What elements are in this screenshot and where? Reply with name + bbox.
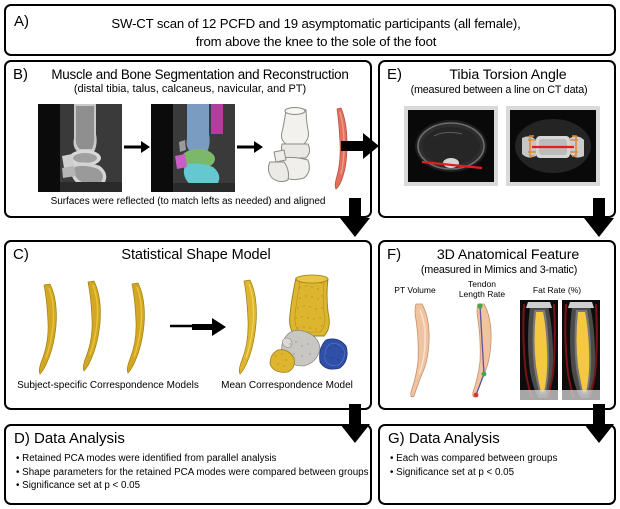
fat-rate-image xyxy=(520,300,600,400)
panel-f-letter: F) xyxy=(387,247,401,262)
panel-f-title: 3D Anatomical Feature xyxy=(404,247,612,263)
panel-b-letter: B) xyxy=(13,67,28,82)
arrow-c-to-d xyxy=(338,404,372,444)
panel-g: G) Data Analysis Each was compared betwe… xyxy=(378,424,616,505)
figure-root: A) SW-CT scan of 12 PCFD and 19 asymptom… xyxy=(0,0,620,509)
tendon-length-rate-label: Tendon Length Rate xyxy=(448,280,516,299)
panel-d-bullet-list: Retained PCA modes were identified from … xyxy=(16,452,369,493)
arrow-f-to-g xyxy=(582,404,616,444)
panel-a-text: SW-CT scan of 12 PCFD and 19 asymptomati… xyxy=(46,15,586,50)
pt-volume-label: PT Volume xyxy=(384,286,446,296)
panel-a-letter: A) xyxy=(14,14,29,29)
panel-g-heading: G) Data Analysis xyxy=(388,430,500,447)
panel-c-caption-left: Subject-specific Correspondence Models xyxy=(8,380,208,391)
panel-f-subtitle: (measured in Mimics and 3-matic) xyxy=(384,264,614,277)
mean-correspondence-model-image xyxy=(234,274,366,378)
panel-g-bullet-list: Each was compared between groups Signifi… xyxy=(390,452,557,479)
panel-c-caption-right: Mean Correspondence Model xyxy=(204,380,370,391)
subject-correspondence-models-image xyxy=(24,278,214,378)
panel-f: F) 3D Anatomical Feature (measured in Mi… xyxy=(378,240,616,410)
panel-d-heading: D) Data Analysis xyxy=(14,430,125,447)
panel-a-line2: from above the knee to the sole of the f… xyxy=(46,33,586,51)
panel-e-letter: E) xyxy=(387,67,402,82)
inline-arrow-2 xyxy=(237,140,263,154)
ct-sagittal-raw-image xyxy=(38,104,122,192)
panel-b-title: Muscle and Bone Segmentation and Reconst… xyxy=(30,67,370,83)
panel-g-bullet-2: Significance set at p < 0.05 xyxy=(390,466,557,480)
tendon-length-rate-image xyxy=(454,300,510,400)
panel-b-subtitle: (distal tibia, talus, calcaneus, navicul… xyxy=(16,83,364,96)
ct-proximal-tibia-axial-image xyxy=(404,106,498,186)
panel-e-subtitle: (measured between a line on CT data) xyxy=(386,84,612,97)
panel-e: E) Tibia Torsion Angle (measured between… xyxy=(378,60,616,218)
panel-d-bullet-1: Retained PCA modes were identified from … xyxy=(16,452,369,466)
fat-rate-label: Fat Rate (%) xyxy=(520,286,594,296)
panel-b-caption: Surfaces were reflected (to match lefts … xyxy=(6,196,370,207)
panel-a: A) SW-CT scan of 12 PCFD and 19 asymptom… xyxy=(4,4,616,56)
mean-model-arrow xyxy=(192,318,226,336)
panel-c-title: Statistical Shape Model xyxy=(26,247,366,264)
bone-reconstruction-3d-image xyxy=(264,106,326,192)
panel-d-bullet-3: Significance set at p < 0.05 xyxy=(16,479,369,493)
ct-sagittal-segmented-image xyxy=(151,104,235,192)
arrow-b-to-e xyxy=(339,131,381,161)
panel-d: D) Data Analysis Retained PCA modes were… xyxy=(4,424,372,505)
tendon-length-rate-label-line2: Length Rate xyxy=(448,290,516,300)
panel-g-bullet-1: Each was compared between groups xyxy=(390,452,557,466)
arrow-b-to-c xyxy=(338,198,372,238)
panel-c: C) Statistical Shape Model xyxy=(4,240,372,410)
panel-d-bullet-2: Shape parameters for the retained PCA mo… xyxy=(16,466,369,480)
panel-a-line1: SW-CT scan of 12 PCFD and 19 asymptomati… xyxy=(46,15,586,33)
ct-distal-tibia-axial-image xyxy=(506,106,600,186)
arrow-e-to-f xyxy=(582,198,616,238)
panel-b: B) Muscle and Bone Segmentation and Reco… xyxy=(4,60,372,218)
panel-e-title: Tibia Torsion Angle xyxy=(404,67,612,83)
inline-arrow-1 xyxy=(124,140,150,154)
pt-volume-image xyxy=(392,300,442,400)
